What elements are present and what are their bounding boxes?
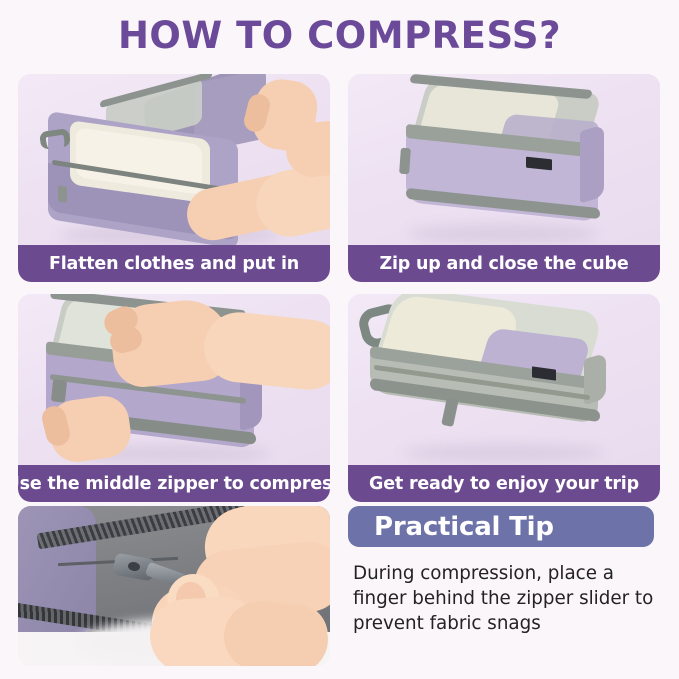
practical-tip-header: Practical Tip xyxy=(348,506,654,547)
compress-cube-illustration xyxy=(18,294,330,465)
step-2-photo xyxy=(348,74,660,245)
step-3-photo xyxy=(18,294,330,465)
step-panel-4: Get ready to enjoy your trip xyxy=(348,294,660,502)
compressed-cube-illustration xyxy=(348,294,660,465)
step-4-photo xyxy=(348,294,660,465)
step-2-caption: Zip up and close the cube xyxy=(348,245,660,282)
step-1-photo xyxy=(18,74,330,245)
step-panel-1: Flatten clothes and put in xyxy=(18,74,330,282)
step-1-caption: Flatten clothes and put in xyxy=(18,245,330,282)
step-panel-2: Zip up and close the cube xyxy=(348,74,660,282)
page-title: HOW TO COMPRESS? xyxy=(0,14,679,57)
step-3-caption: Use the middle zipper to compress xyxy=(18,465,330,502)
step-4-caption: Get ready to enjoy your trip xyxy=(348,465,660,502)
practical-tip-title: Practical Tip xyxy=(374,512,554,542)
practical-tip-section: Practical Tip During compression, place … xyxy=(348,506,660,668)
zipper-closeup-illustration xyxy=(18,506,330,666)
infographic-page: HOW TO COMPRESS? xyxy=(0,0,679,679)
zipper-closeup-photo xyxy=(18,506,330,666)
closed-cube-illustration xyxy=(348,74,660,245)
open-cube-illustration xyxy=(18,74,330,245)
practical-tip-body: During compression, place a finger behin… xyxy=(348,561,658,636)
step-panel-3: Use the middle zipper to compress xyxy=(18,294,330,502)
